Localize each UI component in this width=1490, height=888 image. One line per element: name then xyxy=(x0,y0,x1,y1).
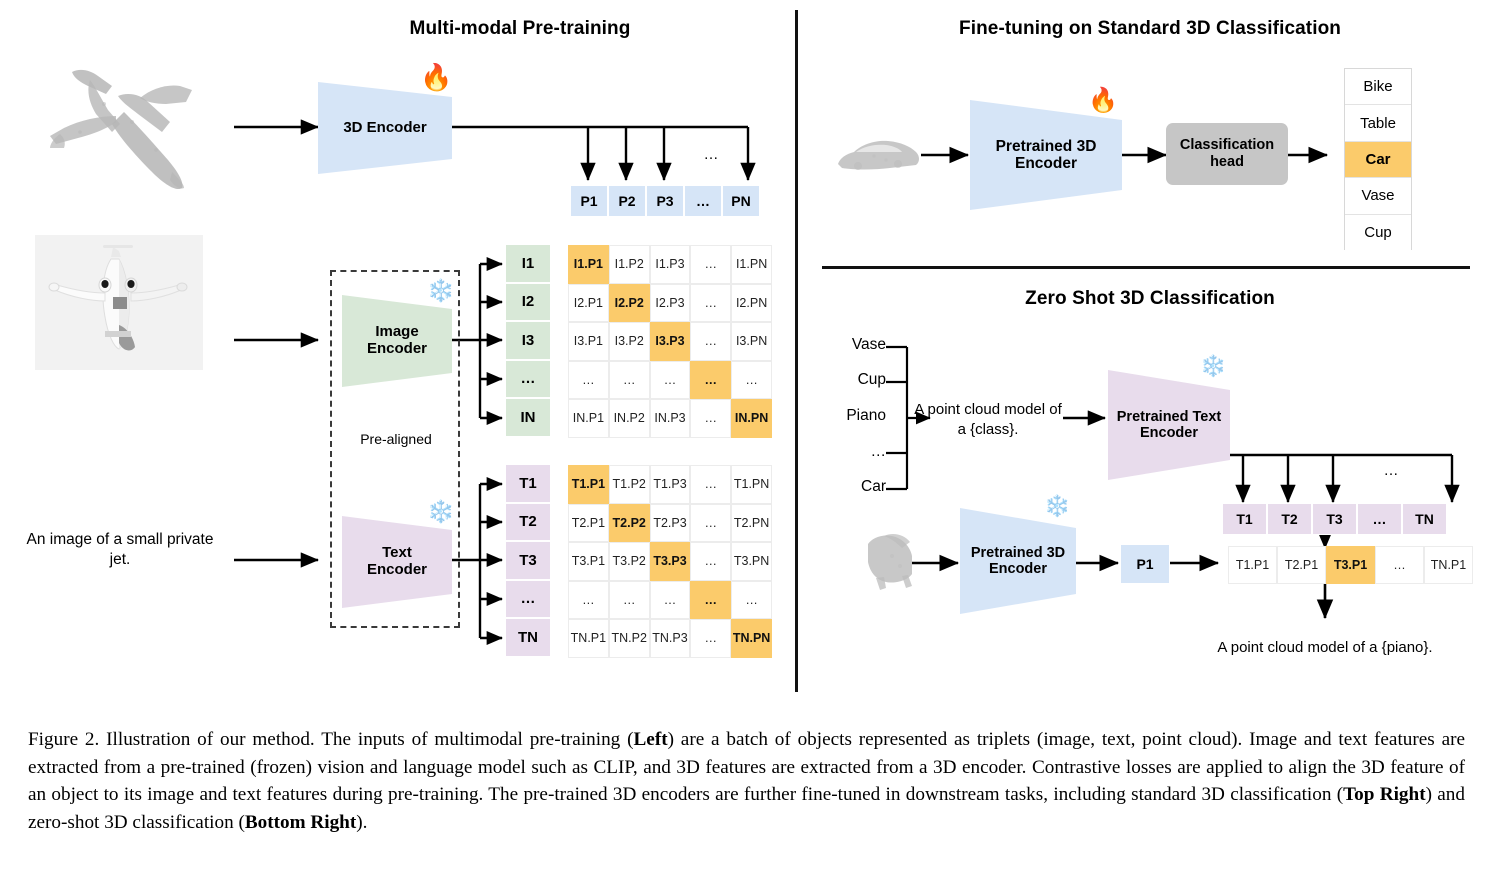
image-similarity-cell-r1c1: I1.P1 xyxy=(568,245,609,284)
text-similarity-cell-r1c5: T1.PN xyxy=(731,465,772,504)
text-similarity-cell-r4c4: … xyxy=(690,581,731,620)
text-similarity-cell-r2c2: T2.P2 xyxy=(609,504,650,543)
point-feature-cell-3: P3 xyxy=(646,185,684,217)
image-similarity-matrix: I1.P1I1.P2I1.P3…I1.PNI2.P1I2.P2I2.P3…I2.… xyxy=(568,245,772,438)
top-right-panel-title: Fine-tuning on Standard 3D Classificatio… xyxy=(830,18,1470,40)
image-feature-cell-1: I1 xyxy=(506,245,550,284)
point-feature-cell-2: P2 xyxy=(608,185,646,217)
classification-head-label: Classification head xyxy=(1180,137,1274,171)
image-feature-cell-4: … xyxy=(506,361,550,400)
zeroshot-similarity-cell-1: T1.P1 xyxy=(1228,546,1277,584)
image-encoder-label: Image Encoder xyxy=(367,324,427,358)
pretrained-3d-encoder-label-zs: Pretrained 3D Encoder xyxy=(971,545,1065,577)
pre-aligned-label: Pre-aligned xyxy=(341,431,451,447)
class-prediction-list[interactable]: BikeTableCarVaseCup xyxy=(1344,68,1412,250)
text-similarity-cell-r5c1: TN.P1 xyxy=(568,619,609,658)
point-feature-cell-4: … xyxy=(684,185,722,217)
text-encoder-block[interactable]: Text Encoder xyxy=(342,516,452,608)
text-similarity-cell-r5c5: TN.PN xyxy=(731,619,772,658)
pretrained-text-encoder-block[interactable]: Pretrained Text Encoder xyxy=(1108,370,1230,480)
image-similarity-cell-r4c3: … xyxy=(650,361,691,400)
text-feature-cell-2: T2 xyxy=(506,504,550,543)
text-similarity-matrix: T1.P1T1.P2T1.P3…T1.PNT2.P1T2.P2T2.P3…T2.… xyxy=(568,465,772,658)
image-similarity-cell-r2c1: I2.P1 xyxy=(568,284,609,323)
image-similarity-cell-r4c5: … xyxy=(731,361,772,400)
image-feature-cell-5: IN xyxy=(506,399,550,438)
text-feature-cell-5: TN xyxy=(506,619,550,658)
zeroshot-class-name-1: Vase xyxy=(820,336,886,354)
zeroshot-text-feature-cell-3: T3 xyxy=(1312,503,1357,535)
text-similarity-cell-r5c2: TN.P2 xyxy=(609,619,650,658)
zeroshot-class-name-4: … xyxy=(820,443,886,461)
image-feature-cell-3: I3 xyxy=(506,322,550,361)
image-similarity-cell-r2c2: I2.P2 xyxy=(609,284,650,323)
piano-point-cloud xyxy=(862,530,922,592)
image-feature-cell-2: I2 xyxy=(506,284,550,323)
image-similarity-cell-r4c1: … xyxy=(568,361,609,400)
text-feature-column: T1T2T3…TN xyxy=(506,465,550,658)
text-encoder-label: Text Encoder xyxy=(367,545,427,579)
text-similarity-cell-r4c3: … xyxy=(650,581,691,620)
image-similarity-cell-r5c2: IN.P2 xyxy=(609,399,650,438)
image-similarity-cell-r4c4: … xyxy=(690,361,731,400)
image-encoder-block[interactable]: Image Encoder xyxy=(342,295,452,387)
zeroshot-text-feature-cell-1: T1 xyxy=(1222,503,1267,535)
class-list-item-cup[interactable]: Cup xyxy=(1345,215,1411,251)
image-similarity-cell-r2c5: I2.PN xyxy=(731,284,772,323)
text-similarity-cell-r4c5: … xyxy=(731,581,772,620)
zeroshot-class-name-5: Car xyxy=(820,478,886,496)
image-similarity-cell-r1c2: I1.P2 xyxy=(609,245,650,284)
image-similarity-cell-r3c4: … xyxy=(690,322,731,361)
zeroshot-point-feature-box: P1 xyxy=(1120,544,1170,584)
zeroshot-similarity-cell-3: T3.P1 xyxy=(1326,546,1375,584)
text-similarity-cell-r4c2: … xyxy=(609,581,650,620)
class-list-item-table[interactable]: Table xyxy=(1345,105,1411,141)
point-feature-row: P1P2P3…PN xyxy=(570,185,760,217)
point-feature-cell-1: P1 xyxy=(570,185,608,217)
image-similarity-cell-r1c5: I1.PN xyxy=(731,245,772,284)
pretrained-3d-encoder-block-ft[interactable]: Pretrained 3D Encoder xyxy=(970,100,1122,210)
prompt-template-text: A point cloud model of a {class}. xyxy=(912,400,1064,440)
text-similarity-cell-r2c3: T2.P3 xyxy=(650,504,691,543)
text-similarity-cell-r2c5: T2.PN xyxy=(731,504,772,543)
3d-encoder-block[interactable]: 3D Encoder xyxy=(318,82,452,174)
text-feature-cell-3: T3 xyxy=(506,542,550,581)
class-list-item-bike[interactable]: Bike xyxy=(1345,69,1411,105)
point-feature-cell-5: PN xyxy=(722,185,760,217)
image-similarity-cell-r3c1: I3.P1 xyxy=(568,322,609,361)
image-similarity-cell-r3c3: I3.P3 xyxy=(650,322,691,361)
image-similarity-cell-r2c4: … xyxy=(690,284,731,323)
image-similarity-cell-r5c4: … xyxy=(690,399,731,438)
text-similarity-cell-r1c4: … xyxy=(690,465,731,504)
airplane-render-image xyxy=(35,235,203,370)
zeroshot-result-text: A point cloud model of a {piano}. xyxy=(1180,638,1470,658)
image-similarity-cell-r1c4: … xyxy=(690,245,731,284)
text-similarity-cell-r1c2: T1.P2 xyxy=(609,465,650,504)
text-similarity-cell-r3c1: T3.P1 xyxy=(568,542,609,581)
zeroshot-text-feature-cell-2: T2 xyxy=(1267,503,1312,535)
image-similarity-cell-r3c2: I3.P2 xyxy=(609,322,650,361)
text-similarity-cell-r2c4: … xyxy=(690,504,731,543)
image-similarity-cell-r1c3: I1.P3 xyxy=(650,245,691,284)
pretrained-3d-encoder-label-ft: Pretrained 3D Encoder xyxy=(996,138,1097,173)
image-similarity-cell-r2c3: I2.P3 xyxy=(650,284,691,323)
image-similarity-cell-r4c2: … xyxy=(609,361,650,400)
zeroshot-similarity-row: T1.P1T2.P1T3.P1…TN.P1 xyxy=(1228,546,1473,584)
horizontal-divider xyxy=(822,266,1470,269)
text-similarity-cell-r1c3: T1.P3 xyxy=(650,465,691,504)
image-similarity-cell-r5c3: IN.P3 xyxy=(650,399,691,438)
text-similarity-cell-r3c4: … xyxy=(690,542,731,581)
image-similarity-cell-r5c1: IN.P1 xyxy=(568,399,609,438)
image-feature-column: I1I2I3…IN xyxy=(506,245,550,438)
text-feature-cell-4: … xyxy=(506,581,550,620)
class-list-item-car[interactable]: Car xyxy=(1345,142,1411,178)
class-list-item-vase[interactable]: Vase xyxy=(1345,178,1411,214)
text-similarity-cell-r1c1: T1.P1 xyxy=(568,465,609,504)
zeroshot-similarity-cell-5: TN.P1 xyxy=(1424,546,1473,584)
zeroshot-class-name-3: Piano xyxy=(820,407,886,425)
text-similarity-cell-r5c4: … xyxy=(690,619,731,658)
text-similarity-cell-r3c3: T3.P3 xyxy=(650,542,691,581)
3d-encoder-label: 3D Encoder xyxy=(343,120,426,137)
point-fanout-dots: … xyxy=(696,146,726,163)
image-similarity-cell-r5c5: IN.PN xyxy=(731,399,772,438)
input-text-caption: An image of a small private jet. xyxy=(20,530,220,571)
airplane-point-cloud xyxy=(20,50,230,205)
left-panel-title: Multi-modal Pre-training xyxy=(240,18,800,40)
pretrained-text-encoder-label: Pretrained Text Encoder xyxy=(1117,409,1222,441)
zeroshot-text-feature-row: T1T2T3…TN xyxy=(1222,503,1447,535)
zeroshot-similarity-cell-4: … xyxy=(1375,546,1424,584)
text-similarity-cell-r4c1: … xyxy=(568,581,609,620)
zeroshot-class-name-2: Cup xyxy=(820,371,886,389)
figure-caption: Figure 2. Illustration of our method. Th… xyxy=(28,726,1465,837)
text-feature-cell-1: T1 xyxy=(506,465,550,504)
text-similarity-cell-r2c1: T2.P1 xyxy=(568,504,609,543)
zeroshot-similarity-cell-2: T2.P1 xyxy=(1277,546,1326,584)
text-similarity-cell-r3c5: T3.PN xyxy=(731,542,772,581)
bottom-right-panel-title: Zero Shot 3D Classification xyxy=(830,288,1470,310)
image-similarity-cell-r3c5: I3.PN xyxy=(731,322,772,361)
zeroshot-text-feature-cell-4: … xyxy=(1357,503,1402,535)
vertical-divider xyxy=(795,10,798,692)
car-point-cloud xyxy=(830,132,924,180)
text-fanout-dots: … xyxy=(1376,462,1406,479)
classification-head-block[interactable]: Classification head xyxy=(1166,123,1288,185)
text-similarity-cell-r5c3: TN.P3 xyxy=(650,619,691,658)
pretrained-3d-encoder-block-zs[interactable]: Pretrained 3D Encoder xyxy=(960,508,1076,614)
zeroshot-text-feature-cell-5: TN xyxy=(1402,503,1447,535)
text-similarity-cell-r3c2: T3.P2 xyxy=(609,542,650,581)
zeroshot-point-feature-label: P1 xyxy=(1136,556,1153,572)
